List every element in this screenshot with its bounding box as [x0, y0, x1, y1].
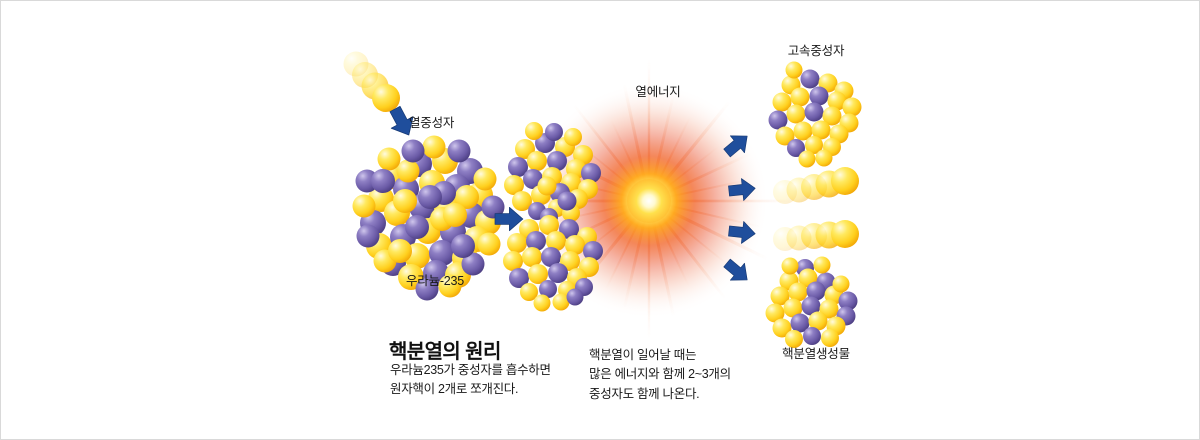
description-center-line-1: 핵분열이 일어날 때는 — [589, 346, 731, 365]
description-center-line-2: 많은 에너지와 함께 2~3개의 — [589, 365, 731, 384]
description-center-line-3: 중성자도 함께 나온다. — [589, 385, 731, 404]
figure-title: 핵분열의 원리 — [389, 335, 501, 364]
incoming-thermal-neutron — [344, 52, 401, 113]
description-left-line-1: 우라늄235가 중성자를 흡수하면 — [390, 361, 551, 380]
fission-diagram-canvas: 열중성자 우라늄-235 열에너지 고속중성자 핵분열생성물 핵분열의 원리 우… — [0, 0, 1200, 440]
figure-description-center: 핵분열이 일어날 때는 많은 에너지와 함께 2~3개의 중성자도 함께 나온다… — [589, 346, 731, 404]
figure-description-left: 우라늄235가 중성자를 흡수하면 원자핵이 2개로 쪼개진다. — [390, 361, 551, 400]
emitted-neutron-1 — [773, 167, 859, 204]
burst-core — [627, 179, 671, 223]
description-left-line-2: 원자핵이 2개로 쪼개진다. — [390, 380, 551, 399]
fission-product-lower — [766, 257, 858, 349]
label-fast-neutron: 고속중성자 — [788, 42, 845, 60]
label-uranium-235: 우라늄-235 — [406, 272, 464, 290]
label-fission-products: 핵분열생성물 — [782, 345, 850, 363]
label-thermal-energy: 열에너지 — [635, 83, 680, 101]
label-thermal-neutron: 열중성자 — [409, 114, 454, 132]
fission-product-upper — [769, 62, 862, 168]
emitted-neutron-2 — [773, 220, 859, 251]
